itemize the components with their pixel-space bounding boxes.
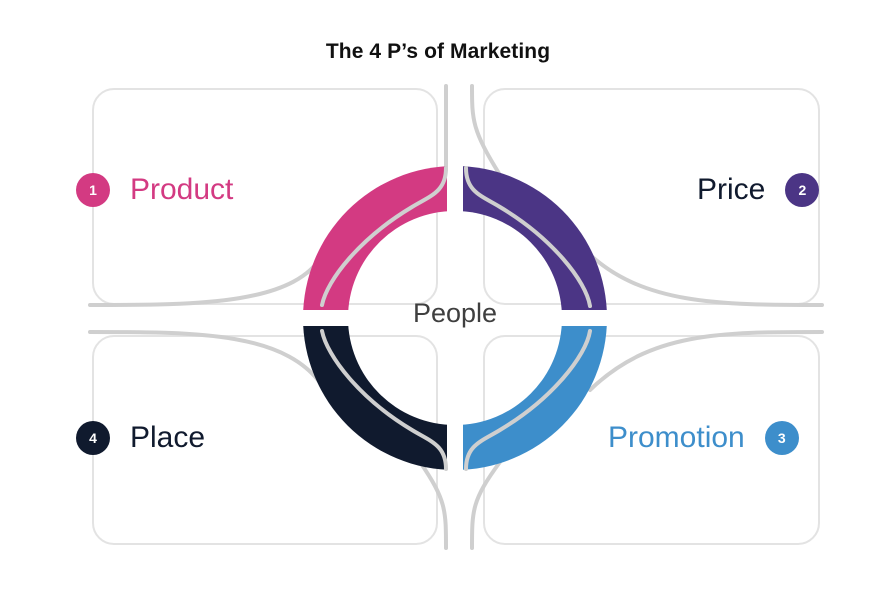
label-place: Place bbox=[130, 423, 205, 453]
badge-promotion[interactable]: 3 bbox=[765, 421, 799, 455]
badge-price[interactable]: 2 bbox=[785, 173, 819, 207]
center-label: People bbox=[355, 298, 555, 329]
label-price: Price bbox=[697, 175, 765, 205]
legend-item-promotion[interactable]: Promotion 3 bbox=[608, 421, 799, 455]
legend-item-place[interactable]: 4 Place bbox=[76, 421, 205, 455]
badge-place[interactable]: 4 bbox=[76, 421, 110, 455]
diagram-canvas: The 4 P’s of Marketing bbox=[0, 0, 876, 594]
legend-item-price[interactable]: Price 2 bbox=[697, 173, 819, 207]
label-promotion: Promotion bbox=[608, 423, 745, 453]
legend-item-product[interactable]: 1 Product bbox=[76, 173, 233, 207]
donut-segment-place[interactable] bbox=[290, 310, 460, 500]
badge-product[interactable]: 1 bbox=[76, 173, 110, 207]
label-product: Product bbox=[130, 175, 233, 205]
donut-segment-promotion[interactable] bbox=[450, 310, 630, 500]
page-title: The 4 P’s of Marketing bbox=[0, 40, 876, 64]
